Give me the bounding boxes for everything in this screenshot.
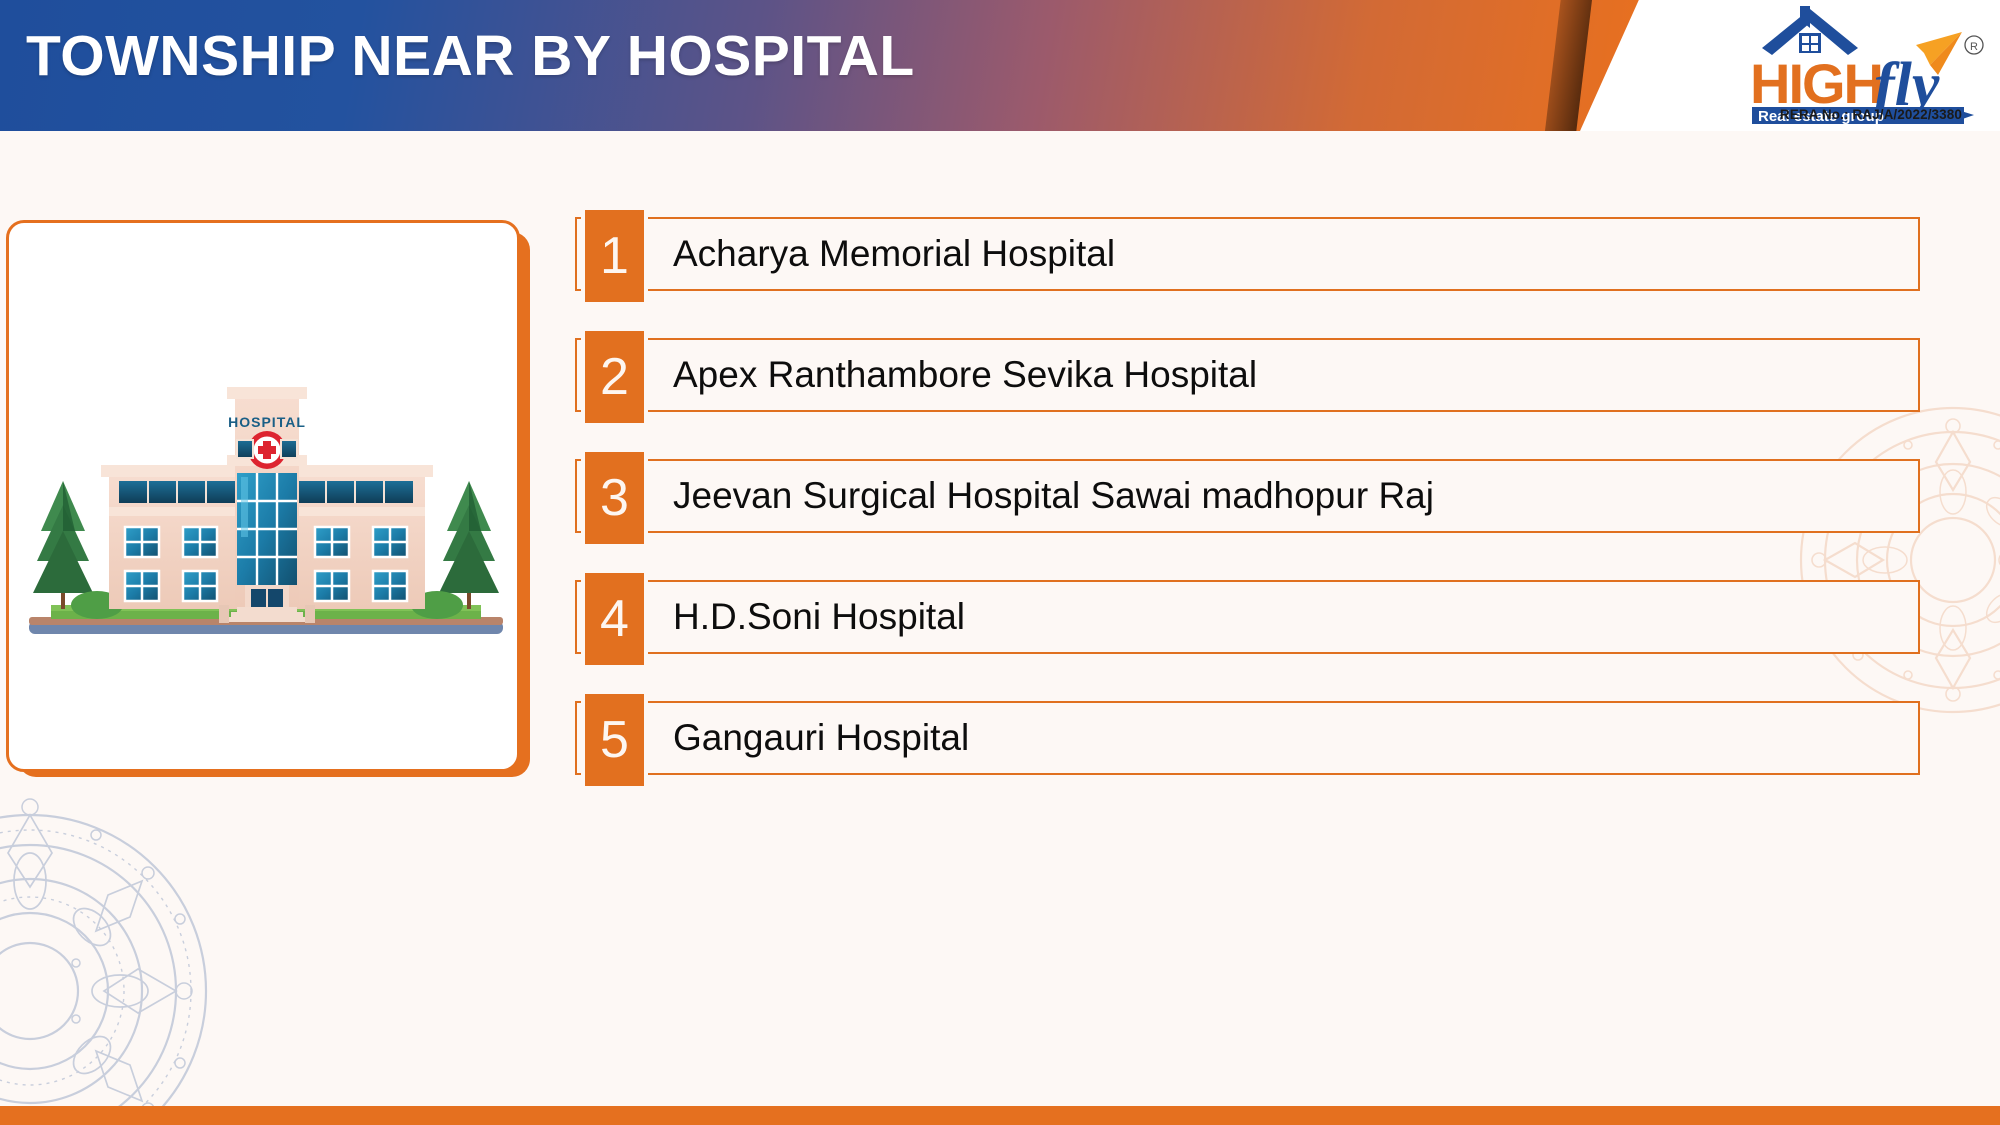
list-item[interactable]: 3 Jeevan Surgical Hospital Sawai madhopu… — [575, 459, 1920, 533]
footer-bar — [0, 1106, 2000, 1125]
hospital-list: 1 Acharya Memorial Hospital 2 Apex Ranth… — [575, 217, 1920, 775]
list-item-number: 5 — [581, 690, 648, 790]
list-item-label: H.D.Soni Hospital — [673, 596, 965, 638]
mandala-decoration-left — [0, 751, 300, 1111]
list-item-number: 4 — [581, 569, 648, 669]
list-item[interactable]: 2 Apex Ranthambore Sevika Hospital — [575, 338, 1920, 412]
list-item-label: Jeevan Surgical Hospital Sawai madhopur … — [673, 475, 1434, 517]
rera-number: RERA No.: RAJ/A/2022/3380 — [1780, 107, 1962, 122]
list-item-number: 3 — [581, 448, 648, 548]
svg-text:HOSPITAL: HOSPITAL — [228, 414, 306, 430]
page-title: TOWNSHIP NEAR BY HOSPITAL — [26, 23, 915, 89]
hospital-building-illustration: HOSPITAL — [23, 355, 509, 655]
image-card: HOSPITAL — [6, 220, 520, 772]
list-item[interactable]: 5 Gangauri Hospital — [575, 701, 1920, 775]
list-item-number: 2 — [581, 327, 648, 427]
list-item-label: Acharya Memorial Hospital — [673, 233, 1115, 275]
svg-text:HIGH: HIGH — [1750, 52, 1882, 115]
list-item-label: Gangauri Hospital — [673, 717, 969, 759]
list-item-number: 1 — [581, 206, 648, 306]
list-item[interactable]: 4 H.D.Soni Hospital — [575, 580, 1920, 654]
logo-plate-shadow — [1536, 0, 1592, 131]
svg-text:R: R — [1970, 41, 1978, 53]
list-item-label: Apex Ranthambore Sevika Hospital — [673, 354, 1257, 396]
list-item[interactable]: 1 Acharya Memorial Hospital — [575, 217, 1920, 291]
header-band: TOWNSHIP NEAR BY HOSPITAL — [0, 0, 2000, 131]
slide-root: TOWNSHIP NEAR BY HOSPITAL — [0, 0, 2000, 1125]
